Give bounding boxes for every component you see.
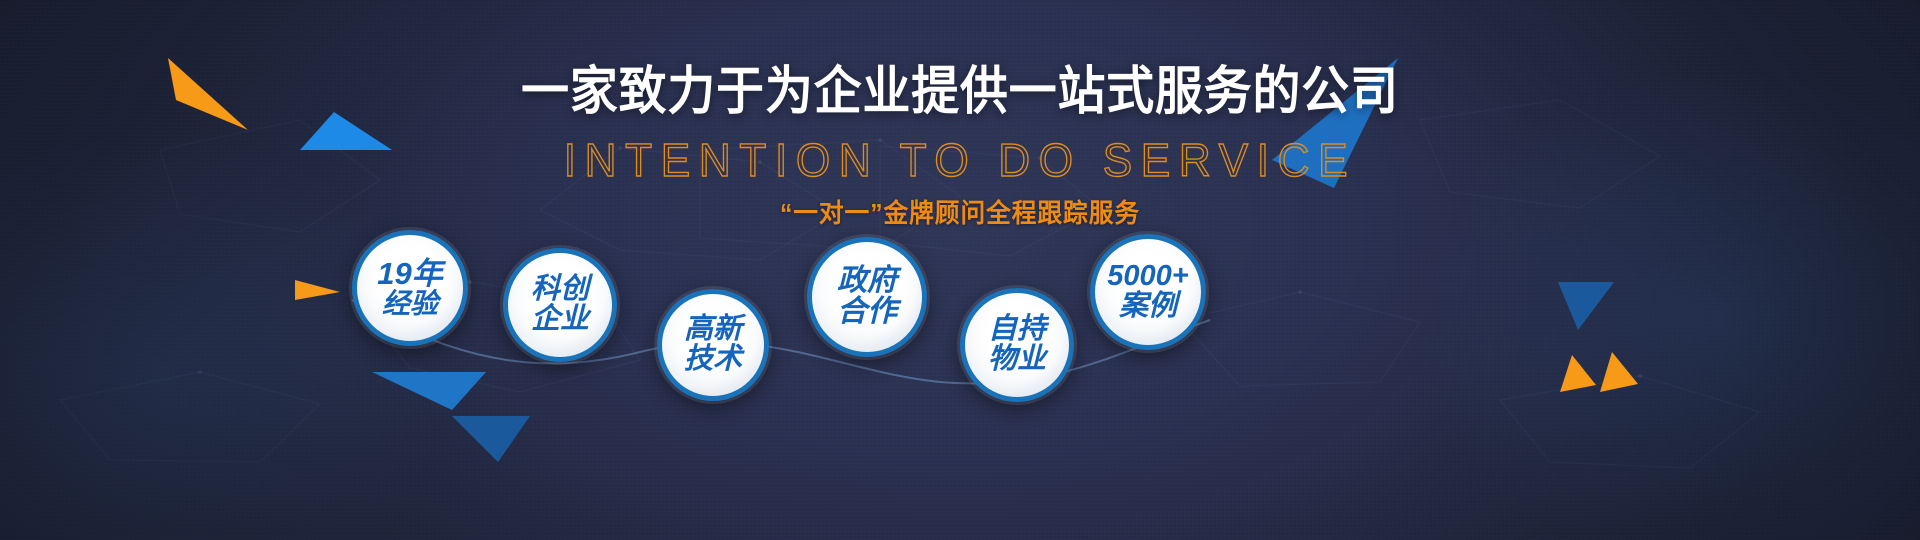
feature-circle-line1: 科创 (531, 275, 589, 305)
feature-circle-innovation-enterprise[interactable]: 科创企业 (503, 248, 617, 362)
feature-circle-line2: 经验 (382, 290, 438, 319)
feature-circle-high-tech[interactable]: 高新技术 (657, 289, 769, 401)
feature-circle-line2: 案例 (1119, 292, 1177, 322)
feature-circle-line2: 技术 (684, 345, 742, 375)
feature-circle-government-cooperation[interactable]: 政府合作 (807, 237, 927, 357)
feature-circle-case-count[interactable]: 5000+案例 (1090, 234, 1206, 350)
feature-circle-years-experience[interactable]: 19年经验 (352, 230, 468, 346)
feature-circle-line2: 物业 (988, 345, 1046, 375)
feature-circle-line2: 企业 (531, 305, 589, 335)
feature-circle-group: 19年经验科创企业高新技术政府合作自持物业5000+案例 (0, 0, 1920, 540)
feature-circle-line1: 5000+ (1107, 262, 1188, 292)
feature-circle-line1: 高新 (684, 315, 742, 345)
feature-circle-self-held-property[interactable]: 自持物业 (960, 288, 1074, 402)
feature-circle-line1: 19年 (377, 258, 442, 290)
feature-circle-line1: 自持 (988, 315, 1046, 345)
feature-circle-line1: 政府 (837, 266, 897, 297)
promo-banner: 一家致力于为企业提供一站式服务的公司 INTENTION TO DO SERVI… (0, 0, 1920, 540)
feature-circle-line2: 合作 (837, 297, 897, 328)
